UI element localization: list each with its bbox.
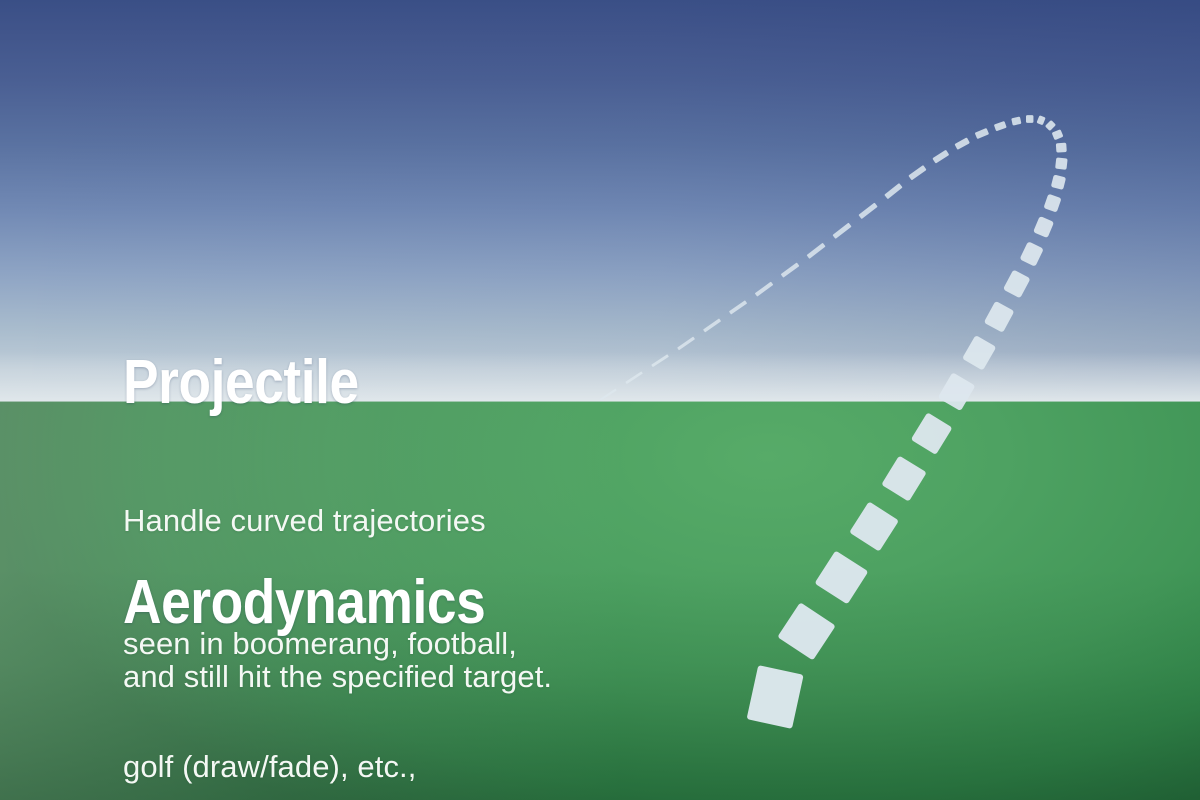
trajectory-dash (858, 202, 877, 219)
trajectory-dash (777, 602, 835, 660)
trajectory-dash (984, 301, 1015, 333)
trajectory-dash (962, 335, 996, 371)
trajectory-dash (975, 128, 989, 139)
trajectory-dash (832, 223, 851, 239)
trajectory-dash (938, 372, 976, 411)
trajectory-dash (599, 389, 616, 401)
trajectory-dash (1026, 115, 1033, 123)
trajectory-dash (1011, 117, 1021, 126)
trajectory-dash (911, 412, 953, 455)
trajectory-dash (1043, 194, 1061, 213)
trajectory-dash (703, 318, 721, 332)
trajectory-dash (807, 243, 826, 259)
trajectory-dash (954, 137, 970, 150)
body-paragraph-2: and still hit the specified target. (123, 574, 552, 779)
trajectory-dash (1036, 115, 1045, 125)
presentation-slide: Projectile Aerodynamics Handle curved tr… (0, 0, 1200, 800)
trajectory-dash (908, 165, 926, 180)
trajectory-dash (884, 183, 902, 199)
trajectory-dash (1051, 174, 1066, 189)
trajectory-dash (932, 150, 949, 164)
title-line-1: Projectile (123, 346, 485, 419)
trajectory-dash (1055, 157, 1068, 169)
trajectory-dash (781, 262, 800, 277)
trajectory-dash (755, 282, 774, 297)
trajectory-dash (881, 455, 927, 501)
trajectory-dash (1033, 216, 1054, 238)
trajectory-dash (677, 337, 695, 351)
trajectory-dash (625, 371, 643, 384)
trajectory-dash (1019, 241, 1043, 267)
trajectory-dash (1003, 269, 1031, 298)
trajectory-dash (747, 665, 804, 729)
trajectory-dash (815, 550, 869, 604)
body-line-4: and still hit the specified target. (123, 656, 552, 697)
trajectory-dash-group (599, 115, 1067, 729)
trajectory-dash (729, 300, 747, 314)
trajectory-dash (651, 354, 669, 367)
trajectory-dash (1045, 120, 1056, 131)
body-line-1: Handle curved trajectories (123, 500, 517, 541)
trajectory-dash (849, 501, 899, 551)
trajectory-dash (1056, 143, 1067, 153)
trajectory-dash (994, 121, 1007, 131)
trajectory-dash (1052, 129, 1064, 140)
